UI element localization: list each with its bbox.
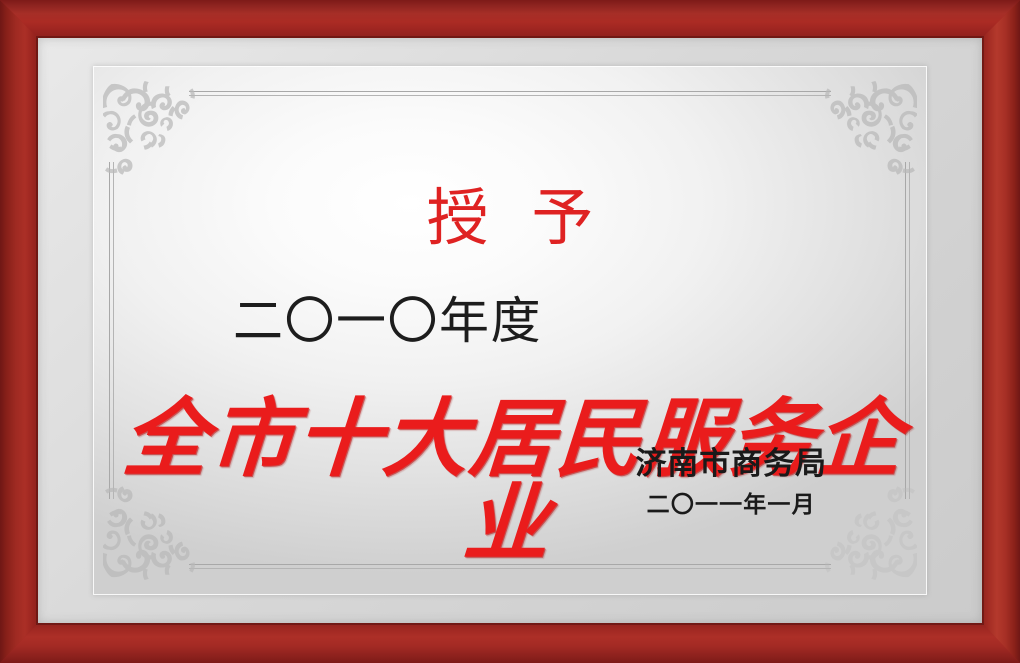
certificate-panel: 授 予 二〇一〇年度 全市十大居民服务企业 济南市商务局 二〇一一年一月 [93, 66, 927, 595]
certificate-content: 授 予 二〇一〇年度 全市十大居民服务企业 济南市商务局 二〇一一年一月 [93, 66, 927, 595]
award-verb-text: 授 予 [93, 188, 927, 250]
frame-bevel-right [980, 0, 1020, 663]
frame-bevel-left [0, 0, 40, 663]
signature-block: 济南市商务局 二〇一一年一月 [635, 446, 827, 519]
issuer-name: 济南市商务局 [635, 446, 827, 483]
frame-bevel-top [0, 0, 1020, 40]
frame-bevel-bottom [0, 621, 1020, 663]
award-year-text: 二〇一〇年度 [233, 296, 542, 346]
award-plaque: 授 予 二〇一〇年度 全市十大居民服务企业 济南市商务局 二〇一一年一月 [0, 0, 1020, 663]
mat-border: 授 予 二〇一〇年度 全市十大居民服务企业 济南市商务局 二〇一一年一月 [38, 38, 982, 623]
issue-date: 二〇一一年一月 [635, 492, 827, 519]
